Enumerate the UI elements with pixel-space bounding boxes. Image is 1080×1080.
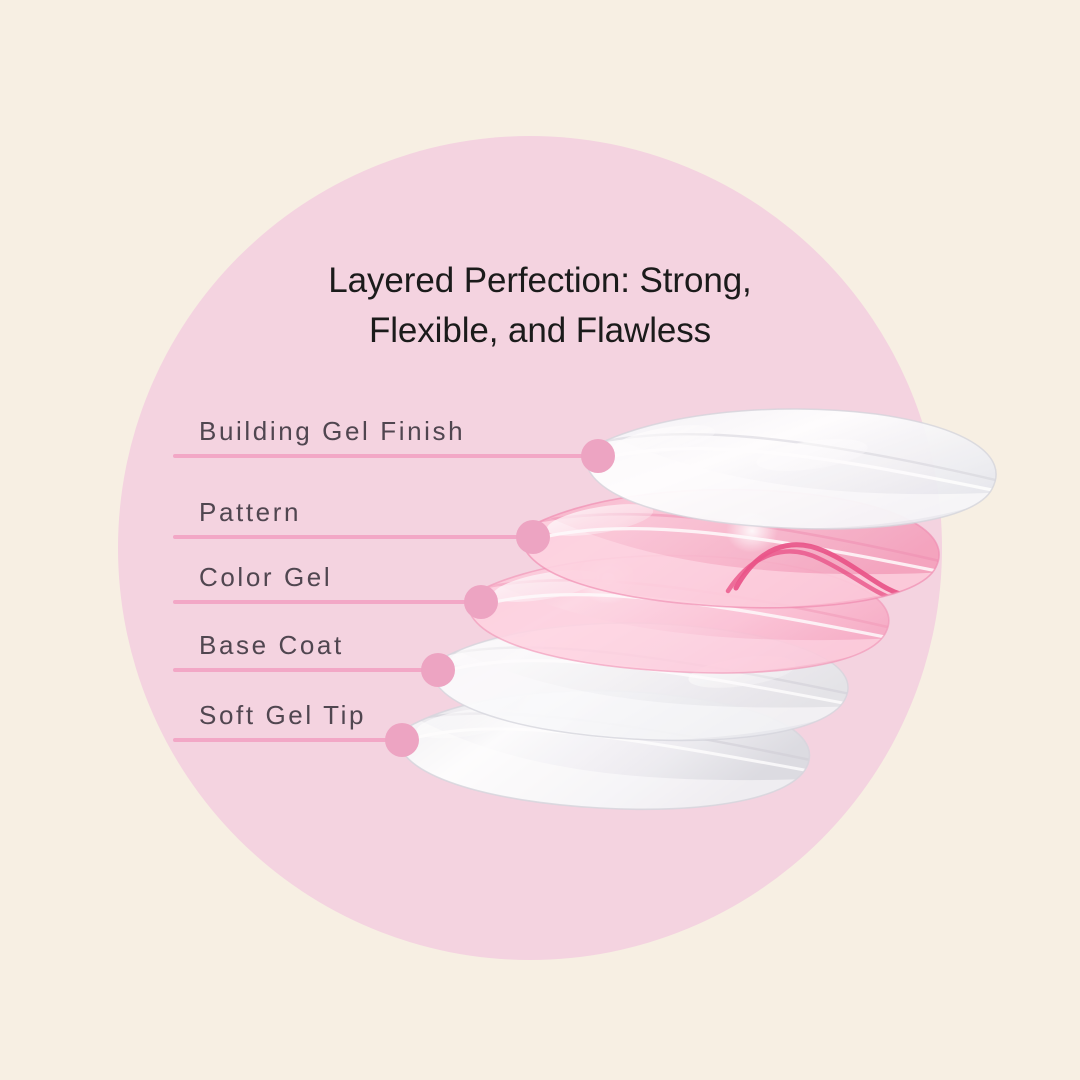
leader-dot[interactable] — [581, 439, 615, 473]
page-title: Layered Perfection: Strong, Flexible, an… — [190, 256, 890, 355]
leader-dot[interactable] — [421, 653, 455, 687]
callout-label: Building Gel Finish — [199, 416, 465, 447]
leader-dot[interactable] — [464, 585, 498, 619]
leader-line — [173, 738, 402, 742]
leader-dot[interactable] — [385, 723, 419, 757]
callout-label: Soft Gel Tip — [199, 700, 366, 731]
leader-line — [173, 600, 481, 604]
leader-line — [173, 668, 438, 672]
callout-label: Base Coat — [199, 630, 344, 661]
infographic-canvas: Layered Perfection: Strong, Flexible, an… — [0, 0, 1080, 1080]
callout-label: Color Gel — [199, 562, 332, 593]
leader-dot[interactable] — [516, 520, 550, 554]
leader-line — [173, 454, 598, 458]
callout-label: Pattern — [199, 497, 301, 528]
leader-line — [173, 535, 533, 539]
